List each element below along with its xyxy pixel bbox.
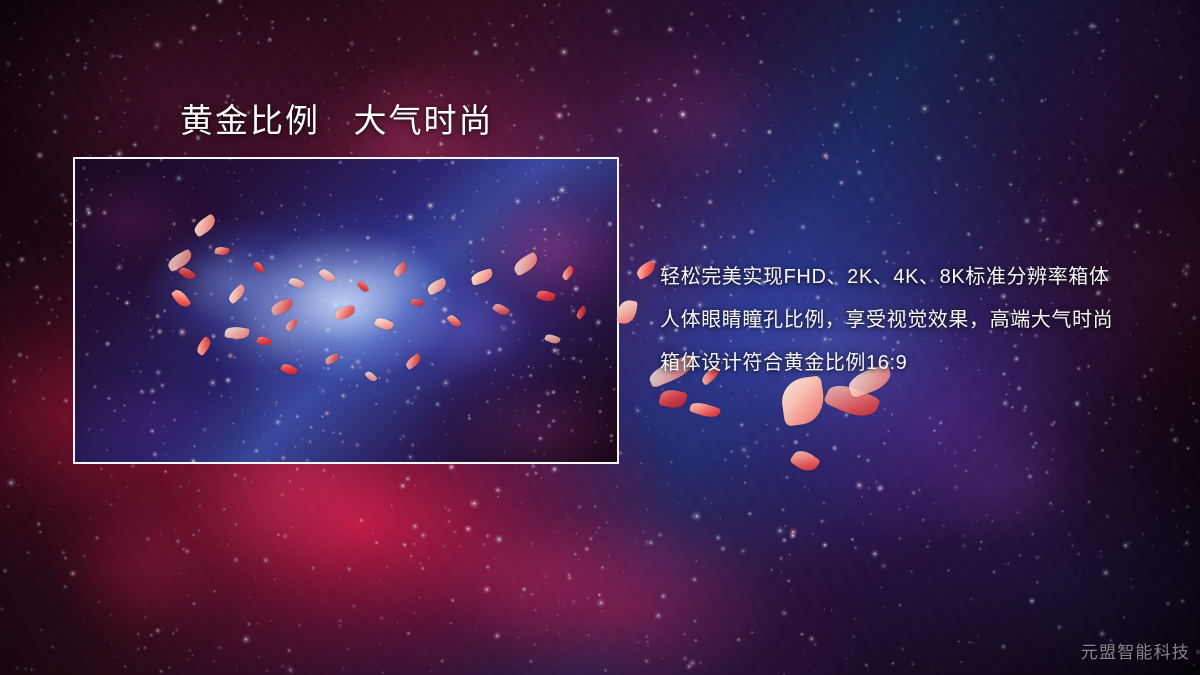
body-line-1: 轻松完美实现FHD、2K、4K、8K标准分辨率箱体	[660, 256, 1180, 299]
body-line-3: 箱体设计符合黄金比例16:9	[660, 342, 1180, 385]
petal	[634, 260, 657, 280]
watermark: 元盟智能科技	[1081, 638, 1190, 663]
body-text-block: 轻松完美实现FHD、2K、4K、8K标准分辨率箱体 人体眼睛瞳孔比例，享受视觉效…	[660, 256, 1180, 385]
panel-starfield	[75, 159, 619, 464]
framed-image-panel	[73, 157, 619, 464]
body-line-2: 人体眼睛瞳孔比例，享受视觉效果，高端大气时尚	[660, 299, 1180, 342]
petal	[658, 387, 688, 411]
page-title: 黄金比例 大气时尚	[180, 100, 494, 141]
petal	[689, 400, 721, 421]
petal	[823, 379, 881, 424]
petal	[789, 446, 821, 475]
petal	[616, 299, 638, 326]
presentation-slide: 黄金比例 大气时尚 轻松完美实现FHD、2K、4K、8K标准分辨率箱体 人体眼睛…	[0, 0, 1200, 675]
